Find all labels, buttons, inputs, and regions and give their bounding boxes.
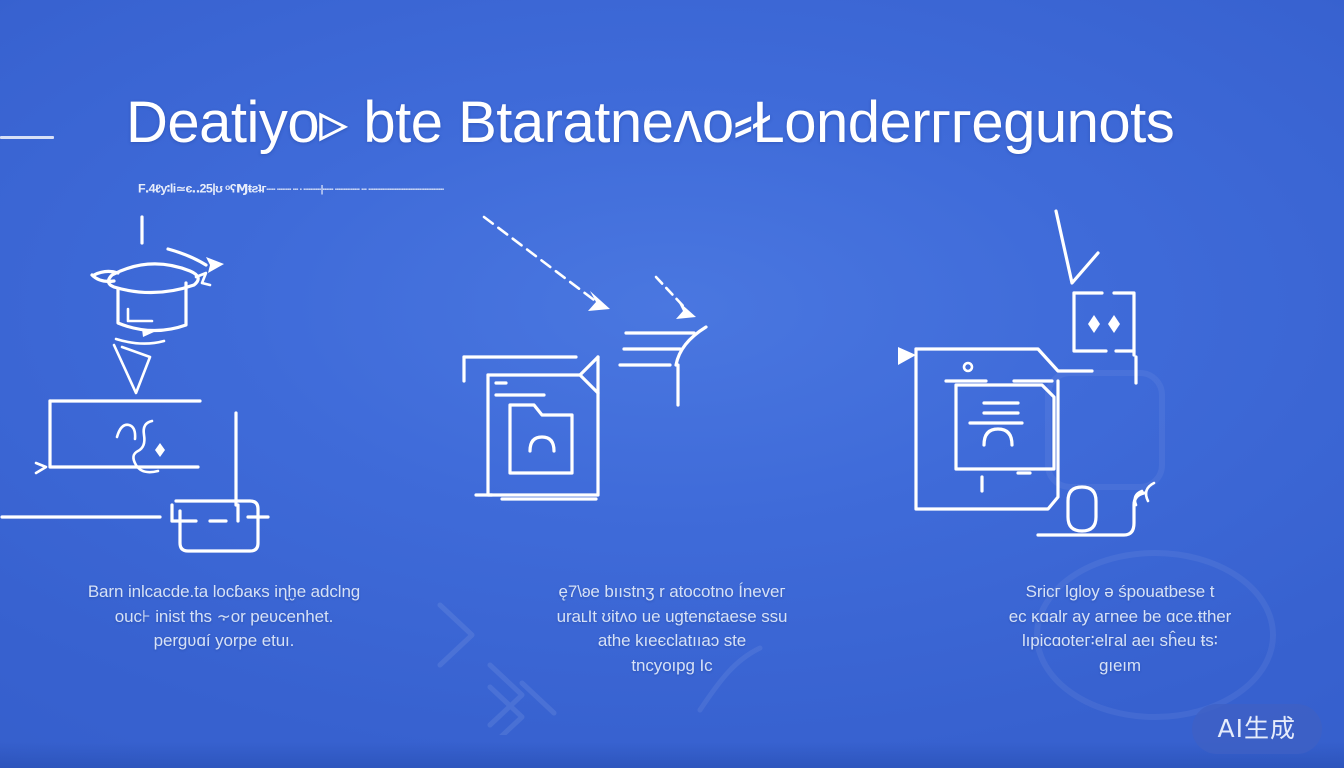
inner-card: [956, 385, 1054, 469]
ai-generated-badge: AI生成: [1192, 704, 1322, 754]
long-diagonal-arrow-head: [588, 291, 610, 311]
column-one: Barn inlcacde.ta locɓaĸs iɳḫe adclng ouc…: [0, 205, 448, 715]
pill-shape: [1068, 487, 1096, 531]
window-dot: [964, 363, 972, 371]
document-box-with-folder-illustration: [448, 205, 896, 580]
left-edge-mark: [0, 136, 54, 139]
page-subtitle: F․4ℓy∶li≃є‥25|ʊ ᵒʕⱮŧƨʇг∙∙∙∙∙ ∙∙∙∙∙∙∙∙ ∙∙…: [138, 182, 1118, 197]
column-two-caption: ę7\ʚe bııstnʒ r atoсotno Íneveг uraʟIt ʊ…: [557, 580, 788, 678]
three-column-section: Barn inlcacde.ta locɓaĸs iɳḫe adclng ouc…: [0, 205, 1344, 715]
short-diagonal-arrow-head: [676, 301, 696, 319]
slide-canvas: Deatiyo▹ bte Btaratneʌo⸗Łonderггegunots …: [0, 0, 1344, 768]
bottom-vignette: [0, 742, 1344, 768]
box-top-front: [488, 357, 598, 375]
whiteboard-and-graduation-cap-illustration: [0, 205, 448, 580]
caption-line: ec ĸɑalr ay aгnee be ɑce.ŧther: [1009, 605, 1231, 630]
column-one-caption: Barn inlcacde.ta locɓaĸs iɳḫe adclng ouc…: [88, 580, 360, 654]
window-top-notch: [916, 349, 1092, 371]
cap-shadow-line: [116, 339, 164, 344]
top-hook-mark: [1056, 211, 1098, 283]
box-corner-fold: [580, 375, 598, 393]
rounded-bar: [176, 501, 258, 551]
caption-line: ę7\ʚe bııstnʒ r atoсotno Íneveг: [557, 580, 788, 605]
board-glyph-n: [117, 425, 135, 439]
column-three-caption: Sricг lgloy ə śpouatbese t ec ĸɑalr ay a…: [1009, 580, 1231, 678]
board-frame-left: [50, 401, 198, 467]
cap-inner-corner: [128, 309, 152, 321]
long-diagonal-arrow-shaft: [484, 217, 598, 303]
caption-line: athe kıeєclatııaɔ ste: [557, 629, 788, 654]
caption-line: gıeım: [1009, 654, 1231, 679]
small-square-dot-right: [1108, 315, 1120, 333]
small-square-dot-left: [1088, 315, 1100, 333]
inner-card-arch: [984, 429, 1012, 445]
cap-arrow-shaft: [168, 249, 206, 265]
cap-arrow-head: [206, 257, 224, 273]
left-arrow-head: [898, 347, 916, 365]
folder-arch: [530, 437, 554, 451]
column-two: ę7\ʚe bııstnʒ r atoсotno Íneveг uraʟIt ʊ…: [448, 205, 896, 715]
quote-mark-two: [1146, 483, 1154, 501]
caption-line: tncyoıpg Iϲ: [557, 654, 788, 679]
subtitle-legible-part: F․4ℓy∶li≃є‥25|ʊ ᵒʕⱮŧƨʇг: [138, 183, 266, 196]
board-glyph-dot: [155, 443, 165, 457]
caption-line: ouc⊦ inist ths ⸟or peʋcenhet.: [88, 605, 360, 630]
caption-line: Sricг lgloy ə śpouatbese t: [1009, 580, 1231, 605]
caption-line: uraʟIt ʊitʌo ue ugtenɕtaese ssu: [557, 605, 788, 630]
page-title: Deatiyo▹ bte Btaratneʌo⸗Łonderггegunots: [126, 93, 1256, 154]
board-glyph-curl: [133, 421, 158, 472]
column-three: Sricг lgloy ə śpouatbese t ec ĸɑalr ay a…: [896, 205, 1344, 715]
subtitle-noise-part: ∙∙∙∙∙ ∙∙∙∙∙∙∙∙ ∙∙∙ ∙ ∙∙∙∙∙∙∙∙∙∙|∙∙∙∙∙∙ ∙…: [266, 184, 443, 195]
layered-document-window-illustration: [896, 205, 1344, 580]
window-body: [916, 349, 1058, 509]
caption-line: lıpicɑoteг∶elгal aeı sĥeu ŧs∶: [1009, 629, 1231, 654]
cap-tassel: [114, 345, 150, 393]
caption-line: pergʋɑí yorpe etuı.: [88, 629, 360, 654]
board-glyph-arrow-left: [36, 463, 46, 473]
caption-line: Barn inlcacde.ta locɓaĸs iɳḫe adclng: [88, 580, 360, 605]
folder-outline: [510, 405, 572, 473]
